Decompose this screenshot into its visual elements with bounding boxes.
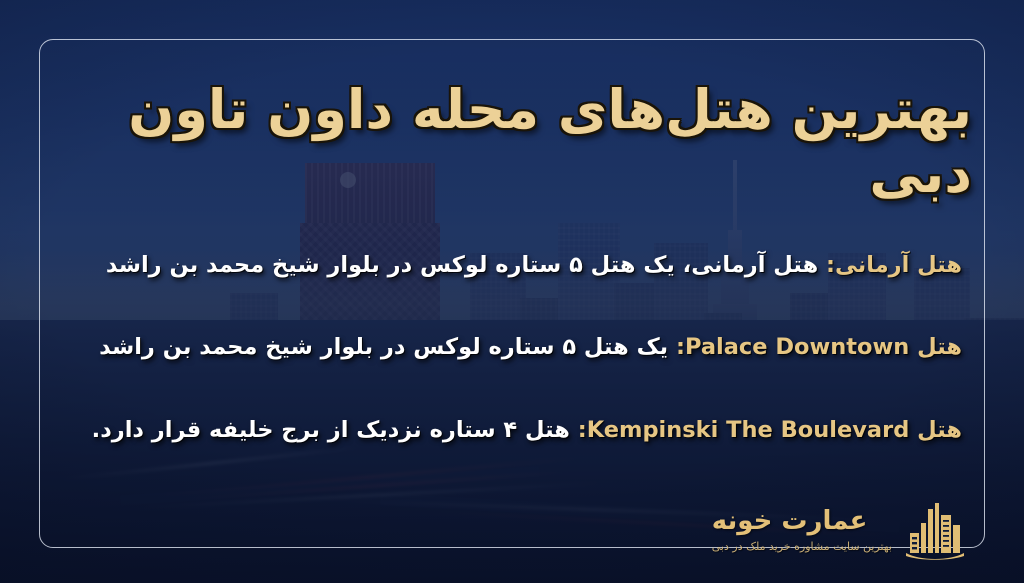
hotel-description: یک هتل ۵ ستاره لوکس در بلوار شیخ محمد بن…	[99, 334, 668, 360]
brand-name: عمارت خونه	[712, 508, 868, 534]
list-item: هتل آرمانی: هتل آرمانی، یک هتل ۵ ستاره ل…	[62, 250, 962, 280]
building-skyline-icon	[904, 499, 966, 561]
hotel-description: هتل آرمانی، یک هتل ۵ ستاره لوکس در بلوار…	[106, 252, 818, 278]
hotel-description: هتل ۴ ستاره نزدیک از برج خلیفه قرار دارد…	[92, 417, 570, 443]
hotel-name-label: هتل Kempinski The Boulevard:	[578, 417, 962, 443]
brand-tagline: بهترین سایت مشاوره خرید ملک در دبی	[712, 541, 892, 552]
hotel-name-label: هتل Palace Downtown:	[676, 334, 962, 360]
list-item: هتل Kempinski The Boulevard: هتل ۴ ستاره…	[62, 415, 962, 445]
hotel-name-label: هتل آرمانی:	[826, 252, 962, 278]
list-item: هتل Palace Downtown: یک هتل ۵ ستاره لوکس…	[62, 332, 962, 362]
brand-logo: عمارت خونه بهترین سایت مشاوره خرید ملک د…	[712, 499, 966, 561]
hotel-list: هتل آرمانی: هتل آرمانی، یک هتل ۵ ستاره ل…	[62, 250, 962, 445]
page-title: بهترین هتل‌های محله داون تاون دبی	[52, 78, 972, 205]
poster-canvas: بهترین هتل‌های محله داون تاون دبی هتل آر…	[0, 0, 1024, 583]
poster-content: بهترین هتل‌های محله داون تاون دبی هتل آر…	[0, 0, 1024, 583]
